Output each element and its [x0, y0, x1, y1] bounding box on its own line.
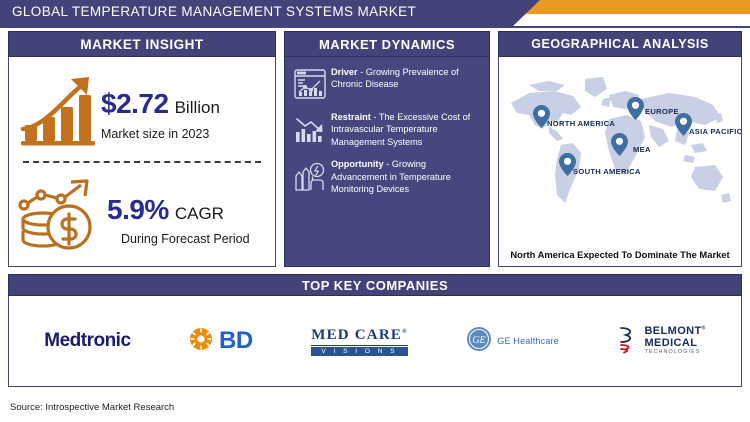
belmont-swirl-icon: [617, 324, 639, 359]
belmont-name1: BELMONT: [644, 325, 701, 337]
dynamics-driver-label: Driver: [331, 67, 358, 77]
geographical-analysis-panel: GEOGRAPHICAL ANALYSIS: [498, 31, 742, 269]
medcare-subtitle: V I S I O N S: [311, 347, 408, 356]
insight-divider: [23, 161, 261, 163]
map-pin-mea[interactable]: [611, 133, 628, 161]
market-insight-header: MARKET INSIGHT: [8, 31, 276, 57]
cagr-unit: CAGR: [175, 204, 224, 224]
market-size-row: $2.72 Billion Market size in 2023: [19, 75, 267, 154]
belmont-line2: MEDICAL: [644, 338, 705, 350]
analytics-dashboard-icon: [293, 67, 327, 101]
dynamics-opportunity-label: Opportunity: [331, 159, 384, 169]
cagr-value: 5.9%: [107, 194, 169, 226]
dynamics-restraint-label: Restraint: [331, 112, 371, 122]
dynamics-opportunity-text: Opportunity - Growing Advancement in Tem…: [331, 157, 483, 195]
dynamics-opportunity-separator: -: [384, 159, 392, 169]
top-key-companies-panel: TOP KEY COMPANIES Medtronic: [8, 274, 742, 387]
touch-innovation-icon: [293, 159, 327, 193]
dynamics-item-opportunity: Opportunity - Growing Advancement in Tem…: [289, 157, 483, 195]
source-note: Source: Introspective Market Research: [10, 402, 174, 413]
declining-bar-chart-icon: [293, 112, 327, 146]
dynamics-item-restraint: Restraint - The Excessive Cost of Intrav…: [289, 110, 483, 148]
market-insight-body: $2.72 Billion Market size in 2023: [8, 57, 276, 267]
market-insight-panel: MARKET INSIGHT $2.7: [8, 31, 276, 269]
geographical-analysis-body: NORTH AMERICA EUROPE ASIA PACIFIC MEA SO…: [498, 57, 742, 267]
bd-wordmark: BD: [219, 327, 253, 355]
belmont-line3: TECHNOLOGIES: [644, 350, 705, 356]
market-dynamics-panel: MARKET DYNAMICS: [284, 31, 490, 269]
market-size-unit: Billion: [175, 98, 220, 118]
region-label-asia-pacific: ASIA PACIFIC: [689, 127, 742, 136]
medcare-wordmark: MED CARE®: [311, 327, 408, 346]
ge-monogram-icon: GE: [466, 326, 492, 357]
map-pin-europe[interactable]: [627, 97, 644, 125]
region-label-europe: EUROPE: [645, 107, 679, 116]
svg-text:GE: GE: [473, 335, 486, 346]
market-dynamics-header: MARKET DYNAMICS: [284, 31, 490, 57]
coins-growth-icon: [17, 179, 101, 260]
page-banner: GLOBAL TEMPERATURE MANAGEMENT SYSTEMS MA…: [0, 0, 750, 27]
market-dynamics-body: Driver - Growing Prevalence of Chronic D…: [284, 57, 490, 267]
dynamics-driver-text: Driver - Growing Prevalence of Chronic D…: [331, 65, 483, 91]
company-logo-ge-healthcare[interactable]: GE GE Healthcare: [466, 313, 559, 369]
region-label-north-america: NORTH AMERICA: [547, 119, 615, 128]
cagr-caption: During Forecast Period: [121, 232, 250, 246]
top-key-companies-header: TOP KEY COMPANIES: [8, 274, 742, 296]
medcare-trademark: ®: [402, 329, 408, 335]
dynamics-driver-separator: -: [358, 67, 366, 77]
belmont-line1: BELMONT®: [644, 326, 705, 338]
medcare-name: MED CARE: [311, 327, 402, 343]
ge-healthcare-wordmark: GE Healthcare: [497, 336, 559, 346]
geographical-analysis-header: GEOGRAPHICAL ANALYSIS: [498, 31, 742, 57]
page-title: GLOBAL TEMPERATURE MANAGEMENT SYSTEMS MA…: [12, 4, 416, 19]
geographical-analysis-caption: North America Expected To Dominate The M…: [499, 249, 741, 260]
region-label-south-america: SOUTH AMERICA: [573, 167, 641, 176]
company-logo-belmont-medical[interactable]: BELMONT® MEDICAL TECHNOLOGIES: [617, 313, 705, 369]
bd-sunburst-icon: [189, 327, 213, 356]
cagr-row: 5.9% CAGR During Forecast Period: [17, 179, 269, 260]
medtronic-wordmark: Medtronic: [44, 330, 130, 352]
dynamics-item-driver: Driver - Growing Prevalence of Chronic D…: [289, 65, 483, 101]
market-size-value: $2.72: [101, 88, 169, 120]
bar-chart-growth-icon: [19, 75, 97, 154]
banner-underline: [0, 26, 750, 28]
dynamics-restraint-text: Restraint - The Excessive Cost of Intrav…: [331, 110, 483, 148]
belmont-trademark: ®: [702, 325, 706, 331]
company-logo-medcare[interactable]: MED CARE® V I S I O N S: [311, 313, 408, 369]
dynamics-restraint-separator: -: [371, 112, 379, 122]
company-logo-medtronic[interactable]: Medtronic: [44, 313, 130, 369]
region-label-mea: MEA: [633, 145, 651, 154]
top-key-companies-body: Medtronic: [8, 296, 742, 387]
market-size-caption: Market size in 2023: [101, 127, 220, 141]
company-logo-bd[interactable]: BD: [189, 313, 253, 369]
